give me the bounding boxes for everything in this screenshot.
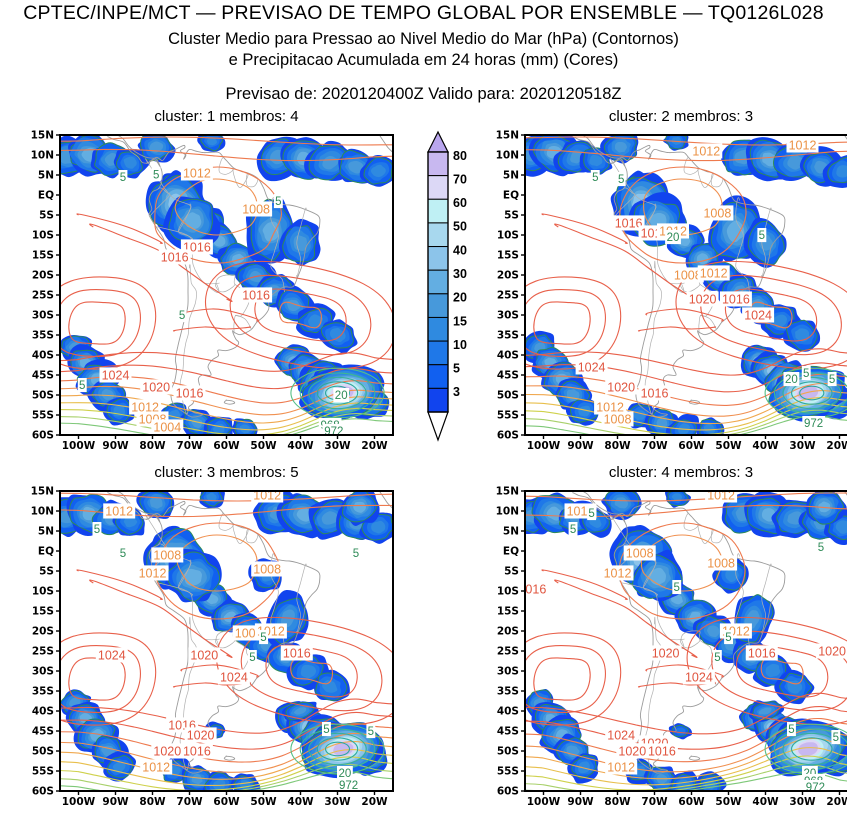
y-axis-label: 50S: [32, 746, 54, 758]
contour-label: 1020: [607, 381, 635, 395]
y-axis-label: EQ: [38, 190, 54, 202]
contour-label: 5: [725, 632, 731, 644]
contour-label: 1012: [607, 761, 635, 775]
contour-label: 1024: [578, 361, 606, 375]
contour-label: 1012: [183, 167, 211, 181]
contour-label: 1024: [102, 369, 130, 383]
contour-label: 5: [120, 548, 126, 560]
contour-label: 1016: [722, 293, 750, 307]
y-axis-label: 45S: [32, 726, 54, 738]
y-axis-label: 10S: [32, 230, 54, 242]
x-axis-label: 30W: [789, 796, 816, 808]
contour-label: 1016: [176, 387, 204, 401]
contour-label: 1012: [692, 145, 720, 159]
y-axis-label: 60S: [32, 430, 54, 442]
contour-label: 1020: [689, 293, 717, 307]
x-axis-label: 60W: [213, 796, 240, 808]
contour-label: 1008: [604, 413, 632, 427]
contour-label: 1024: [98, 649, 126, 663]
y-axis-label: 10N: [31, 506, 54, 518]
contour-label: 5: [79, 380, 85, 392]
x-axis-label: 30W: [324, 440, 351, 452]
y-axis-label: 35S: [497, 330, 519, 342]
y-axis-label: 15S: [32, 250, 54, 262]
contour-label: 1020: [818, 645, 846, 659]
x-axis-label: 40W: [752, 440, 779, 452]
contour-label: 1024: [220, 671, 248, 685]
y-axis-label: 15S: [497, 250, 519, 262]
contour-label: 1016: [641, 387, 669, 401]
y-axis-label: 45S: [32, 370, 54, 382]
contour-label: 1020: [153, 745, 181, 759]
contour-label: 1012: [142, 761, 170, 775]
x-axis-label: 20W: [826, 440, 847, 452]
x-axis-label: 90W: [102, 440, 129, 452]
contour-label: 1008: [674, 269, 702, 283]
contour-label: 1024: [744, 309, 772, 323]
contour-label: 972: [324, 426, 343, 438]
contour-label: 5: [618, 174, 624, 186]
forecast-dates: Previsao de: 2020120400Z Valido para: 20…: [0, 85, 847, 104]
contour-label: 5: [570, 524, 576, 536]
y-axis-label: 40S: [497, 706, 519, 718]
colorbar-band: [428, 365, 448, 389]
y-axis-label: 60S: [497, 430, 519, 442]
contour-label: 972: [806, 782, 825, 794]
y-axis-label: 40S: [497, 350, 519, 362]
contour-label: 1008: [153, 549, 181, 563]
colorbar-band: [428, 223, 448, 247]
contour-label: 1008: [242, 203, 270, 217]
x-axis-label: 20W: [826, 796, 847, 808]
x-axis-label: 40W: [752, 796, 779, 808]
y-axis-label: 55S: [32, 410, 54, 422]
contour-label: 1020: [618, 745, 646, 759]
contour-label: 1012: [604, 567, 632, 581]
contour-label: 5: [153, 169, 159, 181]
contour-label: 5: [94, 524, 100, 536]
contour-label: 5: [759, 230, 765, 242]
colorbar-band: [428, 199, 448, 223]
y-axis-label: 35S: [32, 330, 54, 342]
y-axis-label: 10S: [497, 230, 519, 242]
y-axis-label: 55S: [497, 410, 519, 422]
y-axis-label: 25S: [32, 290, 54, 302]
y-axis-label: 5N: [38, 526, 54, 538]
y-axis-label: 5S: [39, 566, 54, 578]
contour-label: 1016: [518, 583, 546, 597]
y-axis-label: EQ: [503, 190, 519, 202]
contour-label: 1024: [685, 671, 713, 685]
panel-title-cluster-1: cluster: 1 membros: 4: [60, 108, 393, 125]
colorbar-tick-label: 5: [453, 362, 460, 376]
contour-label: 5: [353, 548, 359, 560]
colorbar-tick-label: 20: [453, 291, 467, 305]
contour-label: 5: [833, 732, 839, 744]
y-axis-label: 55S: [497, 766, 519, 778]
contour-label: 1024: [607, 729, 635, 743]
x-axis-label: 90W: [102, 796, 129, 808]
contour-label: 1016: [183, 745, 211, 759]
contour-label: 5: [788, 724, 794, 736]
contour-label: 1012: [700, 267, 728, 281]
contour-label: 1008: [253, 563, 281, 577]
subtitle-line-2: e Precipitacao Acumulada em 24 horas (mm…: [0, 51, 847, 70]
contour-label: 20: [335, 390, 348, 402]
contour-label: 5: [818, 542, 824, 554]
y-axis-label: 25S: [497, 646, 519, 658]
contour-label: 1012: [139, 567, 167, 581]
x-axis-label: 50W: [250, 440, 277, 452]
contour-label: 5: [260, 632, 266, 644]
contour-label: 5: [714, 652, 720, 664]
colorbar-over-arrow: [428, 132, 448, 152]
colorbar-band: [428, 294, 448, 318]
colorbar-tick-label: 40: [453, 243, 467, 257]
y-axis-label: EQ: [503, 546, 519, 558]
colorbar-tick-label: 3: [453, 385, 460, 399]
x-axis-label: 60W: [213, 440, 240, 452]
x-axis-label: 30W: [324, 796, 351, 808]
panel-title-cluster-2: cluster: 2 membros: 3: [525, 108, 837, 125]
x-axis-label: 100W: [527, 796, 561, 808]
y-axis-label: 40S: [32, 706, 54, 718]
x-axis-label: 100W: [62, 440, 96, 452]
y-axis-label: 10S: [32, 586, 54, 598]
x-axis-label: 50W: [250, 796, 277, 808]
contour-label: 1012: [789, 139, 817, 153]
contour-label: 1012: [105, 505, 133, 519]
contour-label: 972: [804, 418, 823, 430]
y-axis-label: 5N: [503, 526, 519, 538]
x-axis-label: 70W: [176, 796, 203, 808]
y-axis-label: 35S: [32, 686, 54, 698]
y-axis-label: 45S: [497, 726, 519, 738]
y-axis-label: 10N: [496, 506, 519, 518]
colorbar-tick-label: 80: [453, 149, 467, 163]
y-axis-label: 60S: [497, 786, 519, 798]
contour-label: 5: [275, 196, 281, 208]
y-axis-label: 30S: [497, 666, 519, 678]
contour-label: 20: [667, 232, 680, 244]
panel-title-cluster-3: cluster: 3 membros: 5: [60, 464, 393, 481]
x-axis-label: 70W: [641, 440, 668, 452]
x-axis-label: 50W: [715, 440, 742, 452]
y-axis-label: 20S: [497, 270, 519, 282]
colorbar-tick-label: 60: [453, 196, 467, 210]
x-axis-label: 50W: [715, 796, 742, 808]
contour-label: 5: [120, 172, 126, 184]
x-axis-label: 100W: [62, 796, 96, 808]
map-panel-cluster-2[interactable]: 1012101210081016101610121008101210201016…: [493, 128, 847, 457]
colorbar-tick-label: 70: [453, 172, 467, 186]
map-panel-cluster-4[interactable]: 1012101210081012100810161012101610201020…: [493, 484, 847, 813]
contour-label: 1020: [142, 381, 170, 395]
x-axis-label: 70W: [641, 796, 668, 808]
y-axis-label: 5S: [504, 566, 519, 578]
map-panel-cluster-3[interactable]: 1012101210081012100810241020100810121016…: [28, 484, 403, 813]
colorbar-precipitation: 80706050403020151053: [418, 130, 480, 442]
colorbar-band: [428, 247, 448, 271]
colorbar-band: [428, 341, 448, 365]
colorbar-band: [428, 152, 448, 176]
x-axis-label: 20W: [361, 796, 388, 808]
x-axis-label: 100W: [527, 440, 561, 452]
y-axis-label: 25S: [32, 646, 54, 658]
y-axis-label: 10N: [496, 150, 519, 162]
contour-label: 5: [592, 172, 598, 184]
y-axis-label: 15N: [31, 486, 54, 498]
y-axis-label: 15S: [32, 606, 54, 618]
colorbar-band: [428, 270, 448, 294]
y-axis-label: 15N: [496, 130, 519, 142]
y-axis-label: 15S: [497, 606, 519, 618]
y-axis-label: 25S: [497, 290, 519, 302]
y-axis-label: 40S: [32, 350, 54, 362]
x-axis-label: 60W: [678, 796, 705, 808]
y-axis-label: 20S: [32, 270, 54, 282]
contour-label: 5: [368, 726, 374, 738]
y-axis-label: 30S: [32, 666, 54, 678]
contour-label: 1008: [707, 557, 735, 571]
colorbar-under-arrow: [428, 412, 448, 440]
contour-label: 1016: [615, 217, 643, 231]
contour-label: 1016: [648, 745, 676, 759]
contour-label: 1016: [748, 647, 776, 661]
map-panel-cluster-1[interactable]: 1012100810161016102410201016101210081004…: [28, 128, 403, 457]
y-axis-label: 5N: [38, 170, 54, 182]
contour-label: 1016: [242, 289, 270, 303]
y-axis-label: 30S: [497, 310, 519, 322]
contour-label: 5: [249, 652, 255, 664]
y-axis-label: 15N: [31, 130, 54, 142]
contour-label: 1020: [187, 729, 215, 743]
x-axis-label: 60W: [678, 440, 705, 452]
page-title: CPTEC/INPE/MCT — PREVISAO DE TEMPO GLOBA…: [0, 2, 847, 25]
contour-label: 5: [803, 368, 809, 380]
y-axis-label: 20S: [497, 626, 519, 638]
colorbar-band: [428, 388, 448, 412]
y-axis-label: 50S: [497, 390, 519, 402]
y-axis-label: 50S: [32, 390, 54, 402]
contour-label: 1020: [652, 647, 680, 661]
y-axis-label: 50S: [497, 746, 519, 758]
y-axis-label: 35S: [497, 686, 519, 698]
colorbar-tick-label: 10: [453, 338, 467, 352]
colorbar-tick-label: 15: [453, 314, 467, 328]
y-axis-label: EQ: [38, 546, 54, 558]
y-axis-label: 55S: [32, 766, 54, 778]
y-axis-label: 10N: [31, 150, 54, 162]
y-axis-label: 60S: [32, 786, 54, 798]
colorbar-tick-label: 30: [453, 267, 467, 281]
y-axis-label: 15N: [496, 486, 519, 498]
x-axis-label: 80W: [139, 440, 166, 452]
colorbar-tick-label: 50: [453, 220, 467, 234]
x-axis-label: 90W: [567, 796, 594, 808]
y-axis-label: 30S: [32, 310, 54, 322]
y-axis-label: 45S: [497, 370, 519, 382]
contour-label: 1004: [153, 421, 181, 435]
y-axis-label: 5S: [39, 210, 54, 222]
x-axis-label: 80W: [604, 796, 631, 808]
precip-contour-fill: [294, 235, 307, 251]
contour-label: 5: [588, 508, 594, 520]
y-axis-label: 5S: [504, 210, 519, 222]
y-axis-label: 10S: [497, 586, 519, 598]
colorbar-band: [428, 317, 448, 341]
y-axis-label: 20S: [32, 626, 54, 638]
x-axis-label: 20W: [361, 440, 388, 452]
x-axis-label: 80W: [604, 440, 631, 452]
x-axis-label: 40W: [287, 440, 314, 452]
contour-label: 1008: [626, 547, 654, 561]
y-axis-label: 5N: [503, 170, 519, 182]
x-axis-label: 40W: [287, 796, 314, 808]
contour-label: 1016: [161, 251, 189, 265]
contour-label: 1008: [703, 207, 731, 221]
x-axis-label: 70W: [176, 440, 203, 452]
x-axis-label: 80W: [139, 796, 166, 808]
contour-label: 20: [785, 374, 798, 386]
contour-label: 5: [673, 582, 679, 594]
subtitle-line-1: Cluster Medio para Pressao ao Nivel Medi…: [0, 30, 847, 49]
x-axis-label: 30W: [789, 440, 816, 452]
contour-label: 1020: [190, 649, 218, 663]
panel-title-cluster-4: cluster: 4 membros: 3: [525, 464, 837, 481]
contour-label: 5: [179, 310, 185, 322]
x-axis-label: 90W: [567, 440, 594, 452]
contour-label: 5: [829, 374, 835, 386]
colorbar-band: [428, 176, 448, 200]
contour-label: 5: [323, 724, 329, 736]
contour-label: 1016: [283, 647, 311, 661]
